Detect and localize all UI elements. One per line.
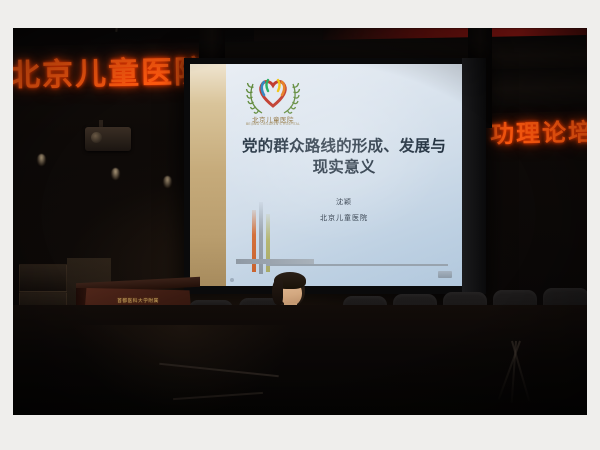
- screen-right-border: [462, 58, 486, 294]
- floor-reflection: [73, 325, 293, 415]
- projector-lens-icon: [91, 132, 102, 143]
- slide-presenter-affiliation: 北京儿童医院: [240, 213, 448, 223]
- presentation-slide: 北京儿童医院 BEIJING CHILDREN'S HOSPITAL 党的群众路…: [226, 64, 462, 286]
- conference-photo: 北京儿童医院 功理论培训: [13, 28, 587, 415]
- ceiling-projector: [85, 127, 131, 151]
- presenter-hair-side: [272, 279, 283, 305]
- slide-title: 党的群众路线的形成、发展与现实意义: [240, 136, 448, 178]
- ceiling-downlight: [163, 176, 172, 188]
- led-banner-right-text: 功理论培训: [490, 112, 587, 150]
- hospital-logo-english-name: BEIJING CHILDREN'S HOSPITAL: [236, 122, 310, 126]
- tripod-leg: [498, 341, 521, 400]
- led-banner-left-text: 北京儿童医院: [13, 46, 207, 95]
- wall-panel: [19, 264, 67, 292]
- slide-watermark: [438, 271, 452, 278]
- projection-screen: 北京儿童医院 BEIJING CHILDREN'S HOSPITAL 党的群众路…: [184, 58, 486, 294]
- ceiling-downlight: [37, 154, 46, 166]
- screenshot-root: 北京儿童医院 功理论培训: [0, 0, 600, 450]
- hospital-logo-icon: [240, 70, 306, 120]
- tripod-stand: [481, 335, 551, 415]
- slide-decor-hbar-thin: [266, 264, 448, 266]
- slide-presenter-name: 沈颖: [240, 197, 448, 207]
- ceiling-downlight: [111, 168, 120, 180]
- podium-text-line1: 首都医科大学附属: [96, 298, 180, 304]
- slide-corner-marker: [230, 278, 234, 282]
- projection-spill-area: [190, 64, 226, 286]
